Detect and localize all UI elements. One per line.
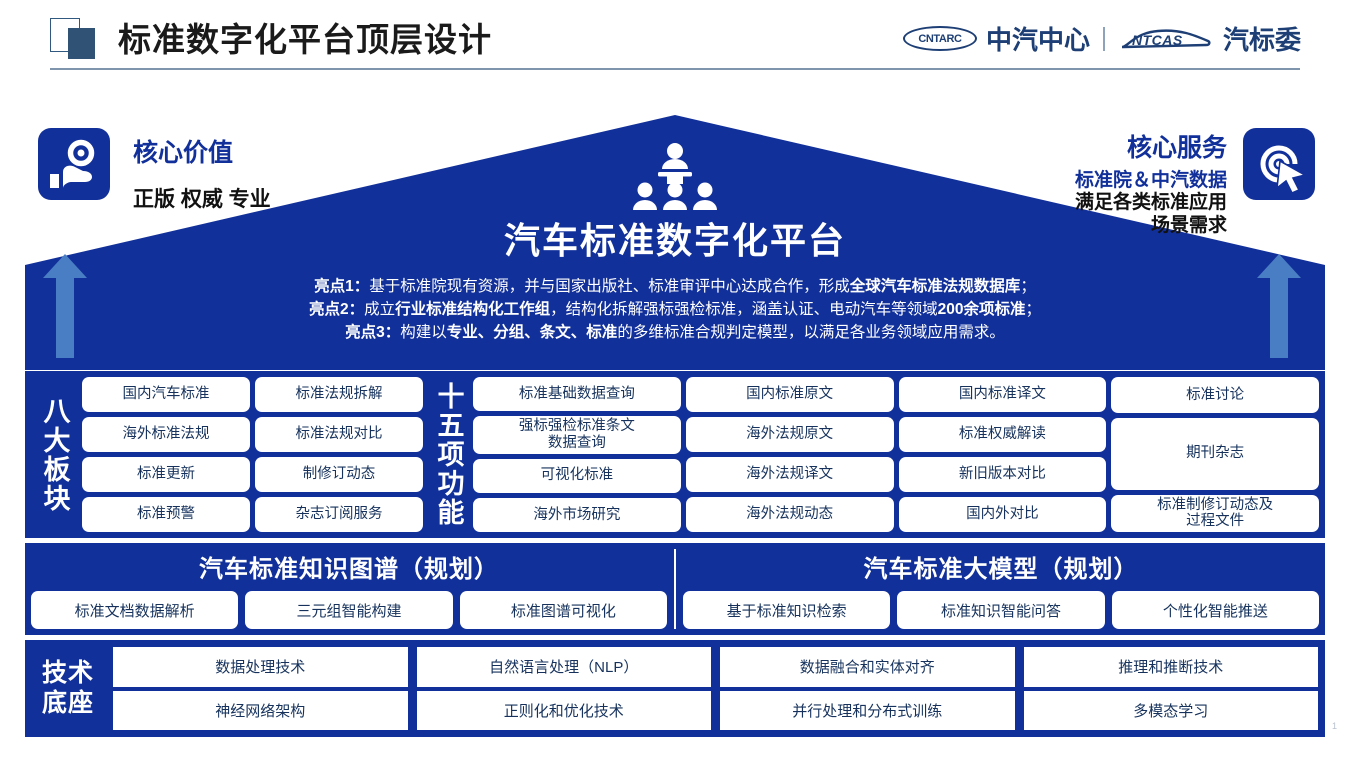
tech-base-cell[interactable]: 数据处理技术: [113, 647, 408, 687]
core-value-subtitle: 正版 权威 专业: [133, 183, 363, 213]
architecture-body: 八大板块 国内汽车标准海外标准法规标准更新标准预警 标准法规拆解标准法规对比制修…: [25, 371, 1325, 737]
knowledge-graph-panel: 汽车标准知识图谱（规划） 标准文档数据解析三元组智能构建标准图谱可视化: [31, 549, 667, 629]
brand-name-cnautocenter: 中汽中心: [986, 20, 1090, 57]
section-kg-and-model: 汽车标准知识图谱（规划） 标准文档数据解析三元组智能构建标准图谱可视化 汽车标准…: [25, 543, 1325, 635]
eight-sections-label: 八大板块: [31, 377, 77, 532]
function-cell[interactable]: 强标强检标准条文数据查询: [473, 416, 681, 453]
page-title: 标准数字化平台顶层设计: [118, 13, 492, 61]
brand-name-ntcas-cn: 汽标委: [1223, 20, 1301, 57]
function-cell[interactable]: 可视化标准: [473, 459, 681, 493]
fifteen-functions-column-d: 标准讨论期刊杂志标准制修订动态及过程文件: [1111, 377, 1319, 532]
knowledge-graph-title: 汽车标准知识图谱（规划）: [31, 549, 667, 584]
tech-base-cell[interactable]: 神经网络架构: [113, 691, 408, 731]
module-cell[interactable]: 标准法规拆解: [255, 377, 423, 412]
tech-base-column: 自然语言处理（NLP）正则化和优化技术: [417, 647, 712, 730]
ntcas-text: NTCAS: [1132, 32, 1183, 48]
brand-separator: [1103, 27, 1105, 51]
ntcas-car-logo-icon: NTCAS: [1118, 25, 1214, 53]
slide-canvas: 标准数字化平台顶层设计 CNTARC 中汽中心 NTCAS 汽标委: [0, 0, 1349, 759]
tech-base-column: 数据融合和实体对齐并行处理和分布式训练: [720, 647, 1015, 730]
core-service-line3: 场景需求: [997, 215, 1227, 237]
knowledge-graph-item[interactable]: 标准图谱可视化: [460, 591, 667, 629]
big-model-item[interactable]: 基于标准知识检索: [683, 591, 890, 629]
cntarc-oval-logo-icon: CNTARC: [903, 26, 977, 51]
tech-base-cell[interactable]: 多模态学习: [1024, 691, 1319, 731]
eight-sections-column-b: 标准法规拆解标准法规对比制修订动态杂志订阅服务: [255, 377, 423, 532]
highlights-list: 亮点1：基于标准院现有资源，并与国家出版社、标准审评中心达成合作，形成全球汽车标…: [25, 275, 1325, 344]
tech-base-cell[interactable]: 正则化和优化技术: [417, 691, 712, 731]
presentation-audience-icon: [629, 142, 721, 217]
module-cell[interactable]: 国内汽车标准: [82, 377, 250, 412]
tech-base-cell[interactable]: 推理和推断技术: [1024, 647, 1319, 687]
fifteen-functions-label: 十五项功能: [428, 377, 468, 532]
highlight-line-3: 亮点3：构建以专业、分组、条文、标准的多维标准合规判定模型，以满足各业务领域应用…: [25, 321, 1325, 344]
core-value-block: 核心价值 正版 权威 专业: [133, 133, 363, 213]
function-cell[interactable]: 海外市场研究: [473, 498, 681, 532]
logo-mark-icon: [50, 18, 98, 58]
hand-holding-person-icon: [38, 128, 110, 200]
big-model-item[interactable]: 标准知识智能问答: [897, 591, 1104, 629]
tech-base-columns: 数据处理技术神经网络架构自然语言处理（NLP）正则化和优化技术数据融合和实体对齐…: [113, 647, 1318, 730]
logo-square-solid: [68, 28, 95, 59]
brand-logos: CNTARC 中汽中心 NTCAS 汽标委: [903, 20, 1301, 57]
module-cell[interactable]: 标准更新: [82, 457, 250, 492]
big-model-items: 基于标准知识检索标准知识智能问答个性化智能推送: [683, 591, 1319, 629]
fifteen-functions-column-b: 国内标准原文海外法规原文海外法规译文海外法规动态: [686, 377, 894, 532]
function-cell[interactable]: 标准权威解读: [899, 417, 1107, 452]
big-model-item[interactable]: 个性化智能推送: [1112, 591, 1319, 629]
slide-header: 标准数字化平台顶层设计 CNTARC 中汽中心 NTCAS 汽标委: [0, 0, 1349, 78]
function-cell[interactable]: 海外法规译文: [686, 457, 894, 492]
module-cell[interactable]: 制修订动态: [255, 457, 423, 492]
function-cell[interactable]: 国内标准原文: [686, 377, 894, 412]
function-cell[interactable]: 国内标准译文: [899, 377, 1107, 412]
highlight-line-2: 亮点2：成立行业标准结构化工作组，结构化拆解强标强检标准，涵盖认证、电动汽车等领…: [25, 298, 1325, 321]
tech-base-cell[interactable]: 并行处理和分布式训练: [720, 691, 1015, 731]
function-cell[interactable]: 标准制修订动态及过程文件: [1111, 495, 1319, 532]
big-model-title: 汽车标准大模型（规划）: [683, 549, 1319, 584]
module-cell[interactable]: 杂志订阅服务: [255, 497, 423, 532]
tech-base-column: 推理和推断技术多模态学习: [1024, 647, 1319, 730]
core-value-title: 核心价值: [133, 133, 363, 169]
section-modules-and-functions: 八大板块 国内汽车标准海外标准法规标准更新标准预警 标准法规拆解标准法规对比制修…: [25, 371, 1325, 538]
tech-base-cell[interactable]: 数据融合和实体对齐: [720, 647, 1015, 687]
module-cell[interactable]: 标准法规对比: [255, 417, 423, 452]
core-service-line1: 标准院＆中汽数据: [997, 170, 1227, 192]
function-cell[interactable]: 标准基础数据查询: [473, 377, 681, 411]
tech-base-column: 数据处理技术神经网络架构: [113, 647, 408, 730]
page-number: 1: [1332, 721, 1337, 731]
core-service-block: 核心服务 标准院＆中汽数据 满足各类标准应用 场景需求: [997, 128, 1227, 237]
highlight-line-1: 亮点1：基于标准院现有资源，并与国家出版社、标准审评中心达成合作，形成全球汽车标…: [25, 275, 1325, 298]
tech-base-label-line2: 底座: [42, 689, 94, 719]
function-cell[interactable]: 国内外对比: [899, 497, 1107, 532]
fifteen-functions-column-a: 标准基础数据查询强标强检标准条文数据查询可视化标准海外市场研究: [473, 377, 681, 532]
tech-base-cell[interactable]: 自然语言处理（NLP）: [417, 647, 712, 687]
function-cell[interactable]: 海外法规动态: [686, 497, 894, 532]
arrow-up-icon-left: [42, 252, 88, 360]
cursor-click-target-icon: [1243, 128, 1315, 200]
core-service-line2: 满足各类标准应用: [997, 192, 1227, 214]
function-cell[interactable]: 期刊杂志: [1111, 418, 1319, 490]
fifteen-functions-column-c: 国内标准译文标准权威解读新旧版本对比国内外对比: [899, 377, 1107, 532]
tech-base-label: 技术 底座: [32, 647, 104, 730]
function-cell[interactable]: 新旧版本对比: [899, 457, 1107, 492]
arrow-up-icon-right: [1256, 252, 1302, 360]
function-cell[interactable]: 标准讨论: [1111, 377, 1319, 413]
function-cell[interactable]: 海外法规原文: [686, 417, 894, 452]
header-divider: [50, 68, 1300, 70]
cntarc-text: CNTARC: [918, 33, 961, 45]
module-cell[interactable]: 标准预警: [82, 497, 250, 532]
eight-sections-column-a: 国内汽车标准海外标准法规标准更新标准预警: [82, 377, 250, 532]
knowledge-graph-item[interactable]: 标准文档数据解析: [31, 591, 238, 629]
knowledge-graph-items: 标准文档数据解析三元组智能构建标准图谱可视化: [31, 591, 667, 629]
section-tech-base: 技术 底座 数据处理技术神经网络架构自然语言处理（NLP）正则化和优化技术数据融…: [25, 640, 1325, 737]
tech-base-label-line1: 技术: [42, 659, 94, 689]
knowledge-graph-item[interactable]: 三元组智能构建: [245, 591, 452, 629]
big-model-panel: 汽车标准大模型（规划） 基于标准知识检索标准知识智能问答个性化智能推送: [674, 549, 1319, 629]
module-cell[interactable]: 海外标准法规: [82, 417, 250, 452]
core-service-title: 核心服务: [997, 128, 1227, 164]
